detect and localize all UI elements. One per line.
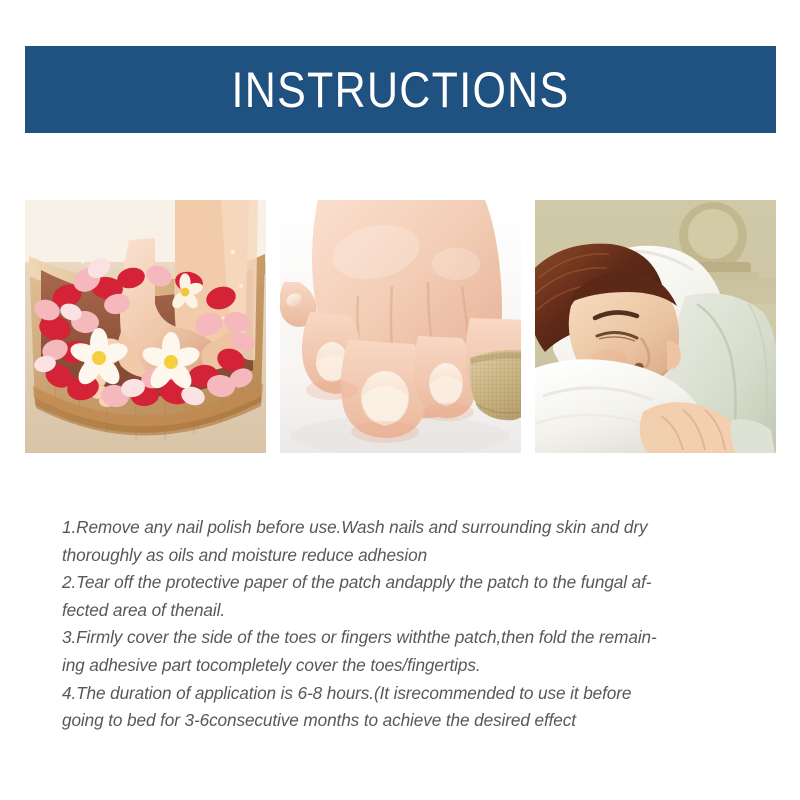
woman-sleeping-photo [535, 200, 776, 453]
instruction-line: ing adhesive part tocompletely cover the… [62, 652, 752, 680]
instruction-line: 3.Firmly cover the side of the toes or f… [62, 624, 752, 652]
foot-spa-bath-photo [25, 200, 266, 453]
instruction-line: 2.Tear off the protective paper of the p… [62, 569, 752, 597]
page-title: INSTRUCTIONS [232, 65, 570, 115]
foot-spa-bath-illustration [25, 200, 266, 453]
woman-sleeping-illustration [535, 200, 776, 453]
instruction-line: thoroughly as oils and moisture reduce a… [62, 542, 752, 570]
toe-patch-applied-photo [280, 200, 521, 453]
instruction-line: 1.Remove any nail polish before use.Wash… [62, 514, 752, 542]
toe-patch-illustration [280, 200, 521, 453]
instruction-image-strip [25, 200, 776, 453]
instruction-line: going to bed for 3-6consecutive months t… [62, 707, 752, 735]
instruction-line: fected area of thenail. [62, 597, 752, 625]
instruction-line: 4.The duration of application is 6-8 hou… [62, 680, 752, 708]
instructions-text-block: 1.Remove any nail polish before use.Wash… [62, 514, 752, 735]
header-banner: INSTRUCTIONS [25, 46, 776, 133]
